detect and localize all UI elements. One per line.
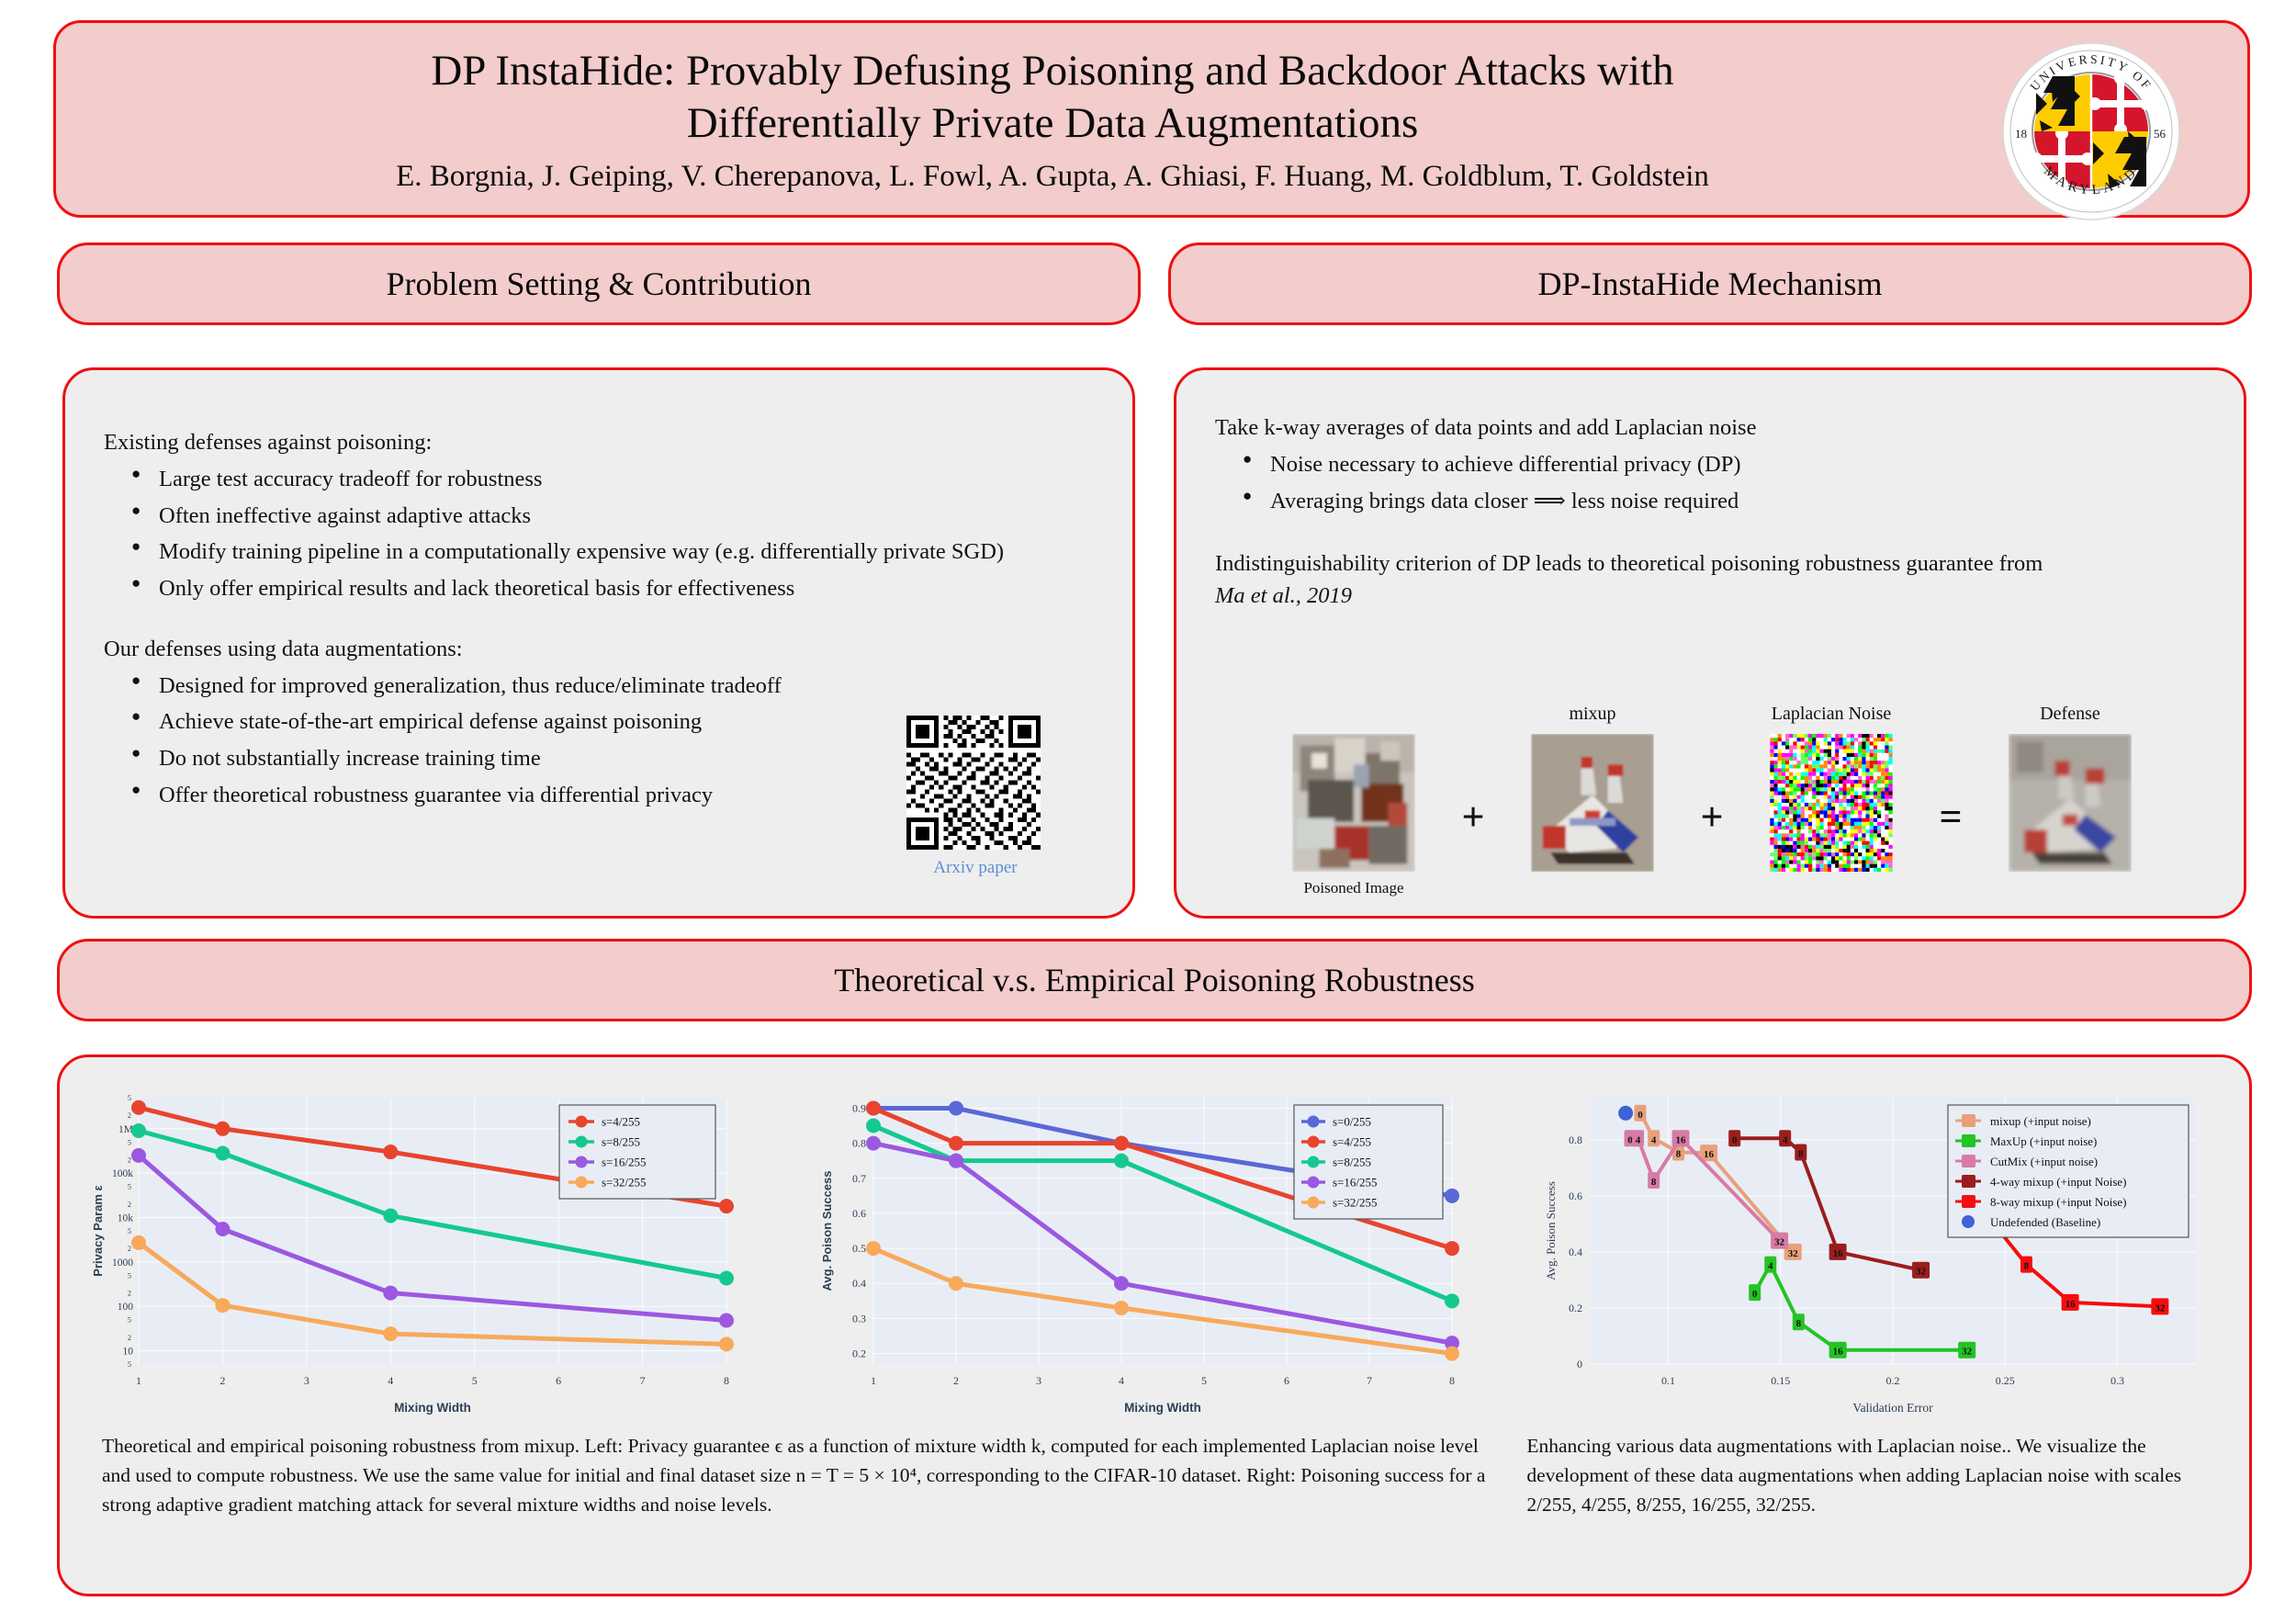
chart-3-xtick: 0.2 (1886, 1374, 1900, 1387)
chart-1-point (719, 1199, 734, 1213)
chart-3-point-label: 8 (1798, 1149, 1804, 1160)
chart-2-point (1114, 1276, 1129, 1291)
plus-operator-2: + (1680, 701, 1744, 846)
charts-row: 1M100k10k1000100105252525252525 12345678… (60, 1057, 2249, 1428)
chart-1-point (719, 1336, 734, 1351)
mechanism-lead: Take k-way averages of data points and a… (1215, 412, 2207, 445)
chart-2-point (949, 1100, 963, 1115)
chart-3-point-label: 0 (1732, 1134, 1738, 1145)
qr-caption[interactable]: Arxiv paper (906, 856, 1044, 881)
chart-2-point (949, 1154, 963, 1168)
chart-1-ytick-minor: 2 (128, 1111, 131, 1120)
section-header-problem-setting: Problem Setting & Contribution (57, 242, 1141, 325)
chart-3-point-label: 8 (1651, 1177, 1657, 1188)
chart-3-ytick: 0 (1577, 1358, 1582, 1370)
chart-1-point (215, 1122, 230, 1136)
chart-2-legend-item: s=8/255 (1333, 1156, 1371, 1169)
chart-2-point (1445, 1189, 1459, 1203)
bullet-text: Designed for improved generalization, th… (159, 673, 782, 698)
chart-2-point (949, 1136, 963, 1151)
chart-2-point (866, 1136, 881, 1151)
list-item: Often ineffective against adaptive attac… (131, 501, 1090, 533)
defense-image-cell: Defense (1983, 701, 2157, 872)
bullet-text: Modify training pipeline in a computatio… (159, 539, 1004, 564)
poisoned-image-sublabel: Poisoned Image (1266, 877, 1441, 899)
defense-image-thumbnail (2009, 734, 2132, 872)
chart-1-ytick: 100 (118, 1302, 134, 1313)
chart-1-ytick-minor: 2 (128, 1156, 131, 1165)
chart-2-legend-item: s=32/255 (1333, 1196, 1378, 1210)
poisoned-image-thumbnail (1292, 734, 1415, 872)
chart-1-xlabel: Mixing Width (394, 1401, 471, 1415)
chart-2-ytick: 0.7 (852, 1172, 866, 1185)
chart-3-ylabel: Avg. Poison Success (1544, 1181, 1558, 1280)
chart-1-ytick-minor: 5 (128, 1137, 131, 1146)
chart-2-ytick: 0.3 (852, 1312, 866, 1325)
chart-1-xtick: 8 (724, 1374, 729, 1387)
chart-1-legend-item: s=32/255 (602, 1176, 647, 1190)
chart-2-point (866, 1100, 881, 1115)
mechanism-figure: Poisoned Image + mixup (1199, 701, 2225, 899)
chart-3-xtick: 0.1 (1661, 1374, 1675, 1387)
bullet-text: Do not substantially increase training t… (159, 746, 541, 771)
chart-3-legend-item: 4-way mixup (+input Noise) (1990, 1175, 2127, 1189)
chart-1-point (383, 1286, 398, 1301)
chart-3-legend-item: MaxUp (+input noise) (1990, 1134, 2097, 1148)
chart-1-ytick: 10k (118, 1212, 134, 1224)
list-item: Designed for improved generalization, th… (131, 671, 1090, 703)
caption-right-text: Enhancing various data augmentations wit… (1526, 1435, 2181, 1516)
caption-right: Enhancing various data augmentations wit… (1526, 1432, 2222, 1519)
chart-1-point (131, 1148, 146, 1163)
list-item: Modify training pipeline in a computatio… (131, 536, 1090, 569)
figure-label: Defense (1983, 701, 2157, 728)
chart-1-ytick: 1M (118, 1124, 133, 1135)
chart-3-point-label: 32 (1774, 1237, 1785, 1248)
chart-1-point (383, 1208, 398, 1223)
chart-1-xtick: 6 (556, 1374, 561, 1387)
chart-1-ylabel: Privacy Param ε (91, 1185, 105, 1276)
chart-3-xtick: 0.3 (2110, 1374, 2124, 1387)
chart-2-point (1114, 1301, 1129, 1315)
chart-1-xtick: 1 (136, 1374, 141, 1387)
chart-1-xtick: 7 (640, 1374, 646, 1387)
poster-root: DP InstaHide: Provably Defusing Poisonin… (0, 0, 2296, 1624)
mixup-airplane-thumbnail (1531, 734, 1654, 872)
bullet-text: Large test accuracy tradeoff for robustn… (159, 467, 542, 491)
chart-3-point-label: 4 (1651, 1134, 1657, 1145)
chart-2-ytick: 0.5 (852, 1242, 866, 1255)
chart-1-ytick: 100k (112, 1168, 133, 1179)
panel-robustness: 1M100k10k1000100105252525252525 12345678… (57, 1054, 2252, 1596)
chart-3-baseline-point (1618, 1106, 1633, 1121)
chart-2-ylabel: Avg. Poison Success (820, 1170, 834, 1291)
university-of-maryland-seal-icon: UNIVERSITY OF MARYLAND 18 56 (1999, 39, 2183, 223)
chart-3-point-label: 16 (2065, 1299, 2077, 1310)
chart-1-ytick-minor: 5 (128, 1226, 131, 1235)
chart-2-point (866, 1119, 881, 1133)
chart-1-point (215, 1298, 230, 1313)
bullet-text: Achieve state-of-the-art empirical defen… (159, 709, 702, 734)
indistinguishability-text: Indistinguishability criterion of DP lea… (1215, 548, 2207, 581)
chart-3-legend-item: CutMix (+input noise) (1990, 1155, 2098, 1168)
title-line-2: Differentially Private Data Augmentation… (129, 97, 1975, 150)
chart-3-xlabel: Validation Error (1852, 1401, 1933, 1415)
chart-3-legend-item: Undefended (Baseline) (1990, 1215, 2100, 1229)
chart-1-legend-item: s=8/255 (602, 1135, 640, 1149)
section-header-label: Problem Setting & Contribution (386, 265, 811, 303)
chart-1-point (131, 1123, 146, 1138)
title-banner: DP InstaHide: Provably Defusing Poisonin… (53, 20, 2250, 218)
chart-3-svg: 00.20.40.60.8 0.10.150.20.250.3 04816320… (1533, 1088, 2258, 1428)
chart-1-ytick-minor: 2 (128, 1244, 131, 1253)
bullet-text: Often ineffective against adaptive attac… (159, 503, 531, 528)
plus-operator-1: + (1441, 701, 1505, 846)
section-header-dp-instahide-mechanism: DP-InstaHide Mechanism (1168, 242, 2252, 325)
chart-2-ytick: 0.4 (852, 1277, 866, 1290)
chart-3-point-label: 32 (1962, 1347, 1973, 1358)
chart-2-legend-item: s=0/255 (1333, 1115, 1371, 1129)
seal-year-right: 56 (2154, 127, 2167, 141)
chart-1-point (215, 1222, 230, 1236)
chart-2-xtick: 4 (1119, 1374, 1124, 1387)
chart-1-ytick-minor: 2 (128, 1333, 131, 1342)
chart-3-point-label: 8 (1676, 1149, 1682, 1160)
chart-2-ytick: 0.9 (852, 1101, 866, 1114)
chart-2-point (1445, 1293, 1459, 1308)
chart-1-ytick: 1000 (112, 1257, 133, 1269)
bullet-text: Only offer empirical results and lack th… (159, 576, 794, 601)
chart-2-xtick: 7 (1367, 1374, 1372, 1387)
citation-ma-et-al: Ma et al., 2019 (1215, 581, 2207, 613)
chart-1-svg: 1M100k10k1000100105252525252525 12345678… (82, 1088, 798, 1428)
chart-1-point (131, 1100, 146, 1115)
chart-2-point (1445, 1347, 1459, 1361)
chart-1-ytick-minor: 5 (128, 1359, 131, 1369)
chart-3-point-label: 32 (1916, 1267, 1927, 1278)
chart-2-point (866, 1241, 881, 1256)
chart-poison-success-vs-validation-error: 00.20.40.60.8 0.10.150.20.250.3 04816320… (1533, 1088, 2249, 1428)
chart-2-legend-item: s=16/255 (1333, 1176, 1378, 1190)
chart-1-legend-item: s=4/255 (602, 1115, 640, 1129)
section-header-robustness: Theoretical v.s. Empirical Poisoning Rob… (57, 939, 2252, 1021)
captions-row: Theoretical and empirical poisoning robu… (60, 1428, 2249, 1519)
chart-3-xtick: 0.25 (1996, 1374, 2015, 1387)
figure-label: Laplacian Noise (1744, 701, 1919, 728)
panel-problem-setting: Existing defenses against poisoning: Lar… (62, 367, 1135, 919)
chart-3-point-label: 4 (1783, 1134, 1788, 1145)
chart-3-ytick: 0.4 (1569, 1246, 1582, 1258)
list-item: Averaging brings data closer ⟹ less nois… (1243, 486, 2207, 518)
chart-3-ytick: 0.6 (1569, 1190, 1582, 1202)
caption-left-text: Theoretical and empirical poisoning robu… (102, 1435, 1485, 1516)
chart-3-point-label: 16 (1833, 1248, 1844, 1259)
chart-2-xtick: 3 (1036, 1374, 1041, 1387)
chart-1-point (383, 1145, 398, 1159)
author-list: E. Borgnia, J. Geiping, V. Cherepanova, … (129, 160, 1975, 194)
chart-1-xtick: 2 (219, 1374, 225, 1387)
chart-1-ytick-minor: 5 (128, 1182, 131, 1191)
chart-3-point-label: 16 (1833, 1347, 1844, 1358)
chart-1-legend-item: s=16/255 (602, 1156, 647, 1169)
chart-2-svg: 0.20.30.40.50.60.70.80.9 12345678 s=0/25… (807, 1088, 1524, 1428)
list-item: Large test accuracy tradeoff for robustn… (131, 464, 1090, 496)
chart-2-legend-item: s=4/255 (1333, 1135, 1371, 1149)
chart-1-ytick-minor: 5 (128, 1270, 131, 1280)
chart-3-point-label: 8 (1796, 1318, 1802, 1329)
panel-mechanism-content: Take k-way averages of data points and a… (1176, 370, 2244, 916)
chart-3-ytick: 0.2 (1569, 1302, 1582, 1314)
our-defenses-lead: Our defenses using data augmentations: (104, 634, 1090, 666)
chart-2-xlabel: Mixing Width (1124, 1401, 1201, 1415)
caption-left: Theoretical and empirical poisoning robu… (102, 1432, 1501, 1519)
spacer (104, 610, 1090, 634)
chart-2-point (1445, 1241, 1459, 1256)
chart-3-point-label: 4 (1768, 1261, 1773, 1272)
chart-1-point (719, 1270, 734, 1285)
chart-3-point-label: 16 (1704, 1149, 1715, 1160)
existing-defenses-lead: Existing defenses against poisoning: (104, 427, 1090, 459)
bullet-text: Noise necessary to achieve differential … (1270, 452, 1740, 477)
panel-problem-setting-content: Existing defenses against poisoning: Lar… (65, 370, 1132, 916)
list-item: Only offer empirical results and lack th… (131, 573, 1090, 605)
chart-1-point (719, 1314, 734, 1328)
chart-3-point-label: 0 (1638, 1110, 1643, 1121)
arxiv-qr-block[interactable]: Arxiv paper (906, 716, 1044, 881)
chart-1-point (215, 1146, 230, 1161)
chart-2-xtick: 2 (953, 1374, 959, 1387)
chart-2-xtick: 1 (871, 1374, 876, 1387)
chart-poison-success-vs-mixing-width: 0.20.30.40.50.60.70.80.9 12345678 s=0/25… (807, 1088, 1524, 1428)
laplacian-noise-thumbnail (1770, 734, 1893, 872)
figure-label: mixup (1505, 701, 1680, 728)
chart-3-point-label: 0 (1752, 1289, 1758, 1300)
mechanism-list: Noise necessary to achieve differential … (1215, 449, 2207, 518)
list-item: Noise necessary to achieve differential … (1243, 449, 2207, 481)
existing-defenses-list: Large test accuracy tradeoff for robustn… (104, 464, 1090, 605)
chart-2-ytick: 0.6 (852, 1207, 866, 1220)
chart-1-xtick: 4 (388, 1374, 393, 1387)
figure-label (1266, 701, 1441, 728)
equals-operator: = (1919, 701, 1983, 846)
bullet-text: Offer theoretical robustness guarantee v… (159, 783, 713, 807)
chart-1-point (383, 1326, 398, 1341)
section-header-label: Theoretical v.s. Empirical Poisoning Rob… (834, 961, 1475, 999)
chart-2-xtick: 5 (1201, 1374, 1207, 1387)
chart-3-xtick: 0.15 (1771, 1374, 1790, 1387)
chart-2-point (1114, 1136, 1129, 1151)
chart-2-xtick: 8 (1449, 1374, 1455, 1387)
chart-3-ytick: 0.8 (1569, 1133, 1582, 1146)
chart-1-ytick-minor: 2 (128, 1200, 131, 1209)
chart-3-point-label: 32 (1788, 1248, 1799, 1259)
chart-3-point-label: 4 (1636, 1134, 1641, 1145)
chart-2-ytick: 0.8 (852, 1137, 866, 1150)
panel-dp-instahide-mechanism: Take k-way averages of data points and a… (1174, 367, 2246, 919)
seal-year-left: 18 (2015, 127, 2027, 141)
mixup-image-cell: mixup (1505, 701, 1680, 872)
title-text-block: DP InstaHide: Provably Defusing Poisonin… (129, 45, 1975, 194)
chart-2-point (949, 1276, 963, 1291)
chart-2-point (1114, 1154, 1129, 1168)
laplacian-noise-cell: Laplacian Noise (1744, 701, 1919, 872)
chart-3-point-label: 16 (1676, 1134, 1687, 1145)
chart-1-xtick: 5 (472, 1374, 478, 1387)
chart-1-ytick-minor: 5 (128, 1315, 131, 1325)
chart-3-legend-item: 8-way mixup (+input Noise) (1990, 1195, 2127, 1209)
chart-privacy-vs-mixing-width: 1M100k10k1000100105252525252525 12345678… (82, 1088, 798, 1428)
chart-3-legend-item: mixup (+input noise) (1990, 1114, 2091, 1128)
bullet-text: Averaging brings data closer ⟹ less nois… (1270, 489, 1739, 513)
chart-1-ytick: 10 (123, 1346, 134, 1357)
qr-code-icon[interactable] (906, 716, 1041, 850)
chart-1-xtick: 3 (304, 1374, 310, 1387)
title-line-1: DP InstaHide: Provably Defusing Poisonin… (129, 45, 1975, 97)
poisoned-image-cell: Poisoned Image (1266, 701, 1441, 899)
chart-2-ytick: 0.2 (852, 1348, 866, 1360)
chart-3-point-label: 32 (2155, 1303, 2166, 1314)
chart-2-xtick: 6 (1284, 1374, 1289, 1387)
chart-1-point (131, 1235, 146, 1250)
chart-1-ytick-minor: 2 (128, 1289, 131, 1298)
chart-1-ytick-minor: 5 (128, 1093, 131, 1102)
chart-3-point-label: 8 (2024, 1261, 2030, 1272)
section-header-label: DP-InstaHide Mechanism (1538, 265, 1883, 303)
